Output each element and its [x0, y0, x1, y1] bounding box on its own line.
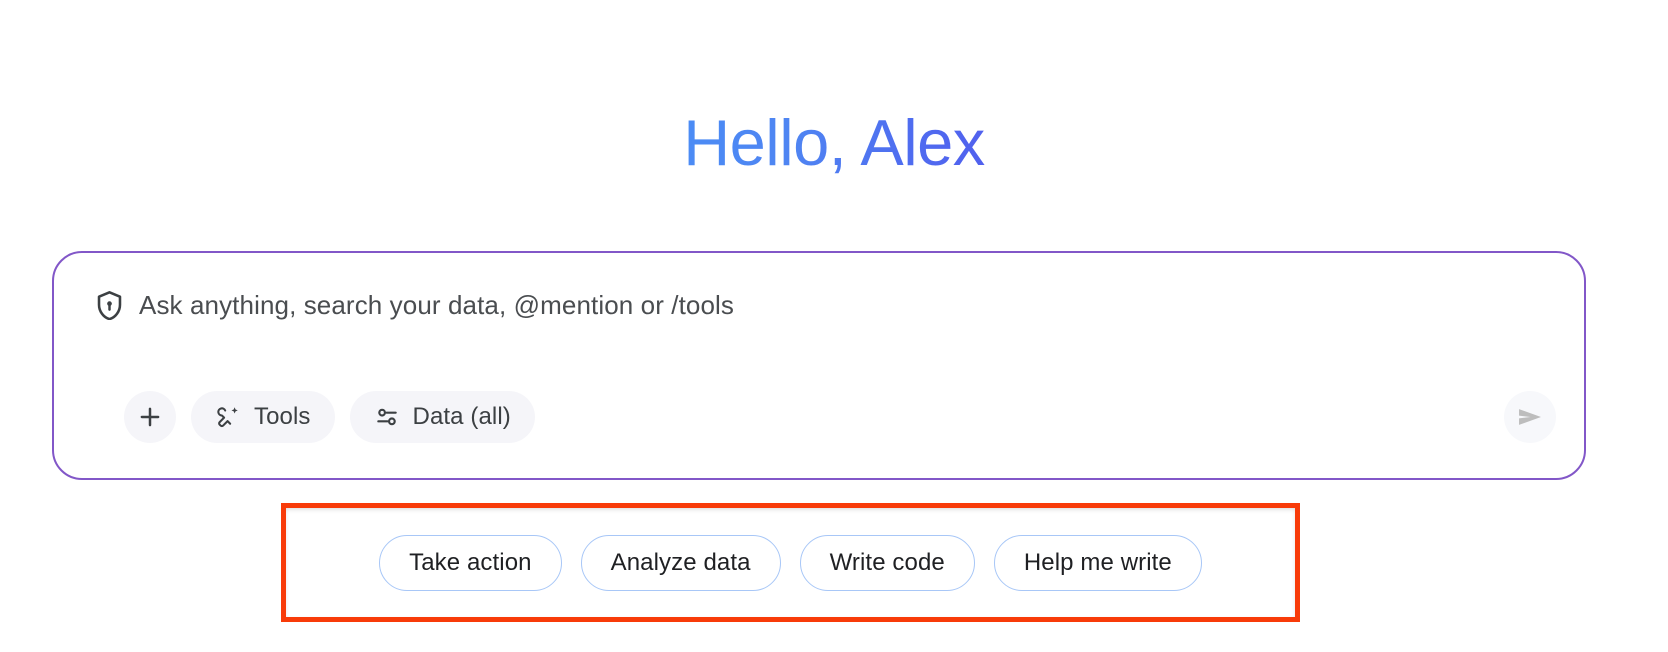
app-root: Hello, Alex Ask anything, search your da…	[0, 0, 1668, 652]
tune-sliders-icon	[374, 404, 400, 430]
data-scope-button-label: Data (all)	[413, 403, 511, 431]
add-attachment-button[interactable]	[124, 391, 176, 443]
suggestion-chip-help-me-write[interactable]: Help me write	[994, 535, 1202, 591]
composer-input-row[interactable]: Ask anything, search your data, @mention…	[96, 290, 734, 321]
magic-wand-icon	[215, 404, 241, 430]
send-button[interactable]	[1504, 391, 1556, 443]
tools-button[interactable]: Tools	[191, 391, 335, 443]
data-scope-button[interactable]: Data (all)	[350, 391, 535, 443]
suggestion-chip-write-code[interactable]: Write code	[800, 535, 975, 591]
suggestion-chip-take-action[interactable]: Take action	[379, 535, 562, 591]
send-paper-plane-icon	[1516, 403, 1544, 431]
shield-lock-icon	[96, 291, 123, 320]
composer-placeholder-text[interactable]: Ask anything, search your data, @mention…	[139, 290, 734, 321]
greeting-container: Hello, Alex	[0, 62, 1668, 224]
composer-toolbar: Tools Data (all)	[124, 391, 535, 443]
page-title: Hello, Alex	[683, 106, 985, 181]
tools-button-label: Tools	[254, 403, 311, 431]
suggestion-chip-analyze-data[interactable]: Analyze data	[581, 535, 781, 591]
plus-icon	[137, 404, 163, 430]
composer-box[interactable]: Ask anything, search your data, @mention…	[52, 251, 1586, 480]
suggestion-chips: Take action Analyze data Write code Help…	[281, 503, 1300, 622]
